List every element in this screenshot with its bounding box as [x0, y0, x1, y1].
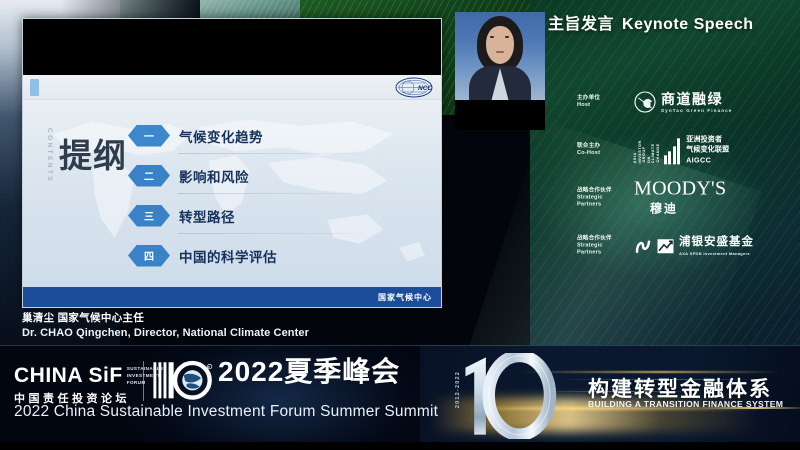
sponsor-role-en-line2: Partners [577, 249, 629, 256]
speaker-name-en: Dr. CHAO Qingchen, Director, National Cl… [22, 326, 309, 340]
slide-body: CONTENTS 提纲 一 气候变化趋势 二 影响和风险 三 转型路径 [23, 100, 441, 287]
axa-spdb-logo[interactable]: 浦银安盛基金 AXA SPDB Investment Managers [634, 237, 754, 256]
slide-header: NCC [23, 75, 441, 100]
sponsor-role-strategic-2: 战略合作伙伴 Strategic Partners [577, 236, 629, 257]
axa-spdb-name-en: AXA SPDB Investment Managers [679, 250, 754, 255]
sponsor-role-en-line2: Partners [577, 201, 629, 208]
china-sif-name-en: CHINA SiF [14, 365, 123, 386]
axa-mark-icon [657, 239, 674, 254]
anniversary-years-label: 2012-2022 [455, 371, 461, 408]
sponsor-row-moodys: 战略合作伙伴 Strategic Partners MOODY'S 穆迪 [530, 174, 800, 222]
presentation-slide[interactable]: NCC CONTENTS 提纲 [22, 18, 442, 308]
keynote-title-cn: 主旨发言 [548, 16, 614, 33]
sponsor-row-axaspdb: 战略合作伙伴 Strategic Partners [530, 222, 800, 270]
svg-text:R: R [208, 365, 210, 369]
banner-top-divider [0, 345, 800, 346]
sponsor-list: 主办单位 Host 商道融绿 SynTao Green Finance [530, 78, 800, 270]
speaker-eye-left [490, 36, 494, 38]
sponsor-role-en: Co-Host [577, 150, 629, 157]
sponsor-row-host: 主办单位 Host 商道融绿 SynTao Green Finance [530, 78, 800, 126]
moodys-name-en: MOODY'S [634, 180, 726, 199]
axa-spdb-name-cn: 浦银安盛基金 [679, 237, 754, 249]
svg-text:NCC: NCC [418, 85, 432, 92]
toc-divider [178, 193, 392, 194]
toc-item[interactable]: 三 转型路径 [128, 202, 388, 229]
contents-heading: 提纲 [59, 138, 127, 174]
moodys-name-cn: 穆迪 [650, 200, 726, 217]
sponsor-panel: 主旨发言Keynote Speech 主办单位 Host [530, 0, 800, 345]
moodys-logo[interactable]: MOODY'S 穆迪 [634, 180, 726, 217]
aigcc-logo[interactable]: ASIA INVESTOR GROUP ON CLIMATE CHANGE 亚洲… [634, 134, 729, 165]
toc-item[interactable]: 一 气候变化趋势 [128, 122, 388, 149]
toc-item[interactable]: 四 中国的科学评估 [128, 242, 388, 269]
toc-divider [178, 153, 392, 154]
summit-title-en: 2022 China Sustainable Investment Forum … [14, 403, 438, 421]
aigcc-abbrev: AIGCC [686, 155, 729, 165]
speaker-name-cn: 巢清尘 国家气候中心主任 [22, 312, 309, 326]
sponsor-role-en-line1: Strategic [577, 195, 629, 202]
toc-number-badge: 二 [128, 165, 170, 187]
aigcc-wordmark: 亚洲投资者 气候变化联盟 AIGCC [686, 134, 729, 165]
syntao-mark-icon [634, 91, 656, 113]
syntao-name-en: SynTao Green Finance [661, 108, 732, 113]
anniversary-big-10-icon [452, 353, 562, 439]
aigcc-word-change: CHANGE [657, 144, 661, 163]
keynote-title: 主旨发言Keynote Speech [548, 10, 754, 34]
aigcc-name-cn-line1: 亚洲投资者 [686, 134, 729, 144]
spdb-mark-icon [634, 238, 654, 255]
axa-spdb-marks: 浦银安盛基金 AXA SPDB Investment Managers [634, 237, 754, 256]
speaker-mouth [496, 51, 504, 53]
slide-footer-label: 国家气候中心 [378, 292, 432, 303]
slide-footer: 国家气候中心 [23, 287, 441, 307]
sponsor-role-host: 主办单位 Host [577, 95, 629, 109]
syntao-name-cn: 商道融绿 [661, 92, 732, 106]
banner-ray-2 [540, 391, 700, 392]
slide-toc-list: 一 气候变化趋势 二 影响和风险 三 转型路径 四 中国的科学评估 [128, 122, 388, 269]
banner-bottom-bar [0, 442, 800, 450]
syntao-wordmark: 商道融绿 SynTao Green Finance [661, 92, 732, 113]
speaker-face [486, 26, 514, 64]
toc-item-label: 转型路径 [179, 206, 235, 226]
toc-divider [178, 233, 392, 234]
slide-top-black-bar [23, 19, 441, 75]
slide-header-tab [30, 79, 39, 96]
speaker-eye-right [505, 36, 509, 38]
aigcc-bars-icon [664, 136, 681, 164]
summit-title-cn: 2022夏季峰会 [218, 358, 400, 386]
sponsor-role-en: Host [577, 102, 629, 109]
moodys-wordmark: MOODY'S 穆迪 [634, 180, 726, 217]
toc-number-badge: 四 [128, 245, 170, 267]
china-sif-row: CHINA SiF SUSTAINABLE INVESTMENT FORUM [14, 365, 163, 387]
toc-number-badge: 三 [128, 205, 170, 227]
sponsor-role-cn: 主办单位 [577, 95, 629, 102]
aigcc-name-cn-line2: 气候变化联盟 [686, 145, 729, 155]
toc-item[interactable]: 二 影响和风险 [128, 162, 388, 189]
ncc-logo-icon: NCC [395, 77, 433, 98]
bottom-banner: CHINA SiF SUSTAINABLE INVESTMENT FORUM 中… [0, 345, 800, 450]
anniversary-10-mark-icon: R [152, 359, 214, 403]
syntao-logo[interactable]: 商道融绿 SynTao Green Finance [634, 91, 732, 113]
speaker-caption: 巢清尘 国家气候中心主任 Dr. CHAO Qingchen, Director… [22, 312, 309, 340]
china-sif-logo: CHINA SiF SUSTAINABLE INVESTMENT FORUM 中… [14, 365, 163, 406]
summit-slogan-en: BUILDING A TRANSITION FINANCE SYSTEM [588, 399, 783, 409]
sponsor-row-cohost: 联合主办 Co-Host ASIA INVESTOR GROUP ON CLIM… [530, 126, 800, 174]
axa-spdb-wordmark: 浦银安盛基金 AXA SPDB Investment Managers [679, 237, 754, 256]
broadcast-screen: NCC CONTENTS 提纲 [0, 0, 800, 450]
toc-item-label: 中国的科学评估 [179, 246, 277, 266]
toc-number-badge: 一 [128, 125, 170, 147]
sponsor-role-cohost: 联合主办 Co-Host [577, 143, 629, 157]
sponsor-role-cn: 战略合作伙伴 [577, 236, 629, 243]
sponsor-role-strategic-1: 战略合作伙伴 Strategic Partners [577, 188, 629, 209]
banner-ray-1 [560, 379, 760, 380]
aigcc-mark-vertical-text: ASIA INVESTOR GROUP ON CLIMATE CHANGE [634, 137, 661, 163]
keynote-title-en: Keynote Speech [622, 16, 753, 33]
sponsor-role-en-line1: Strategic [577, 243, 629, 250]
sponsor-role-cn: 战略合作伙伴 [577, 188, 629, 195]
toc-item-label: 影响和风险 [179, 166, 249, 186]
sponsor-role-cn: 联合主办 [577, 143, 629, 150]
banner-logo-divider [143, 361, 144, 401]
toc-item-label: 气候变化趋势 [179, 126, 263, 146]
contents-vertical-label: CONTENTS [46, 128, 53, 183]
